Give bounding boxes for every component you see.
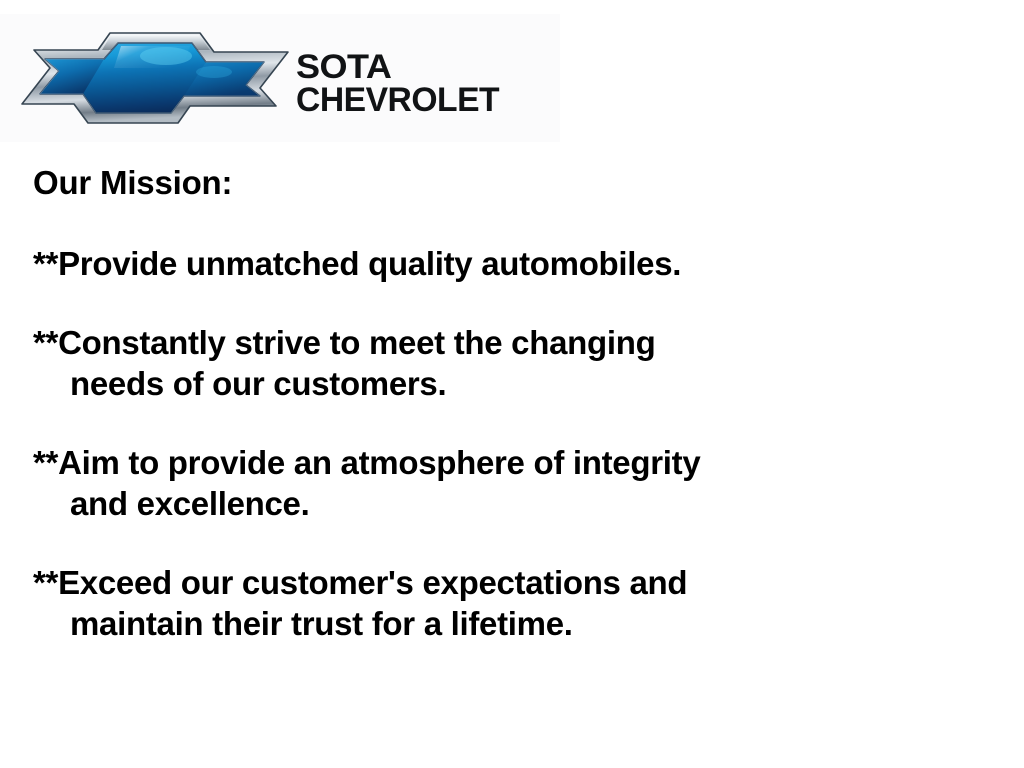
mission-bullet-2: **Constantly strive to meet the changing…	[33, 322, 993, 404]
mission-bullet-3: **Aim to provide an atmosphere of integr…	[33, 442, 993, 524]
mission-bullet-4: **Exceed our customer's expectations and…	[33, 562, 993, 644]
page-title: Our Mission:	[33, 152, 993, 199]
dealership-wordmark: SOTA CHEVROLET	[296, 50, 556, 132]
mission-bullet-1: **Provide unmatched quality automobiles.	[33, 243, 993, 284]
chevrolet-bowtie-icon	[14, 26, 296, 130]
wordmark-line-sota: SOTA	[296, 50, 391, 84]
mission-slide: SOTA CHEVROLET Our Mission: **Provide un…	[0, 0, 1024, 768]
slide-body: Our Mission: **Provide unmatched quality…	[33, 152, 993, 644]
dealership-logo: SOTA CHEVROLET	[0, 14, 560, 142]
wordmark-line-chevrolet: CHEVROLET	[296, 83, 499, 117]
